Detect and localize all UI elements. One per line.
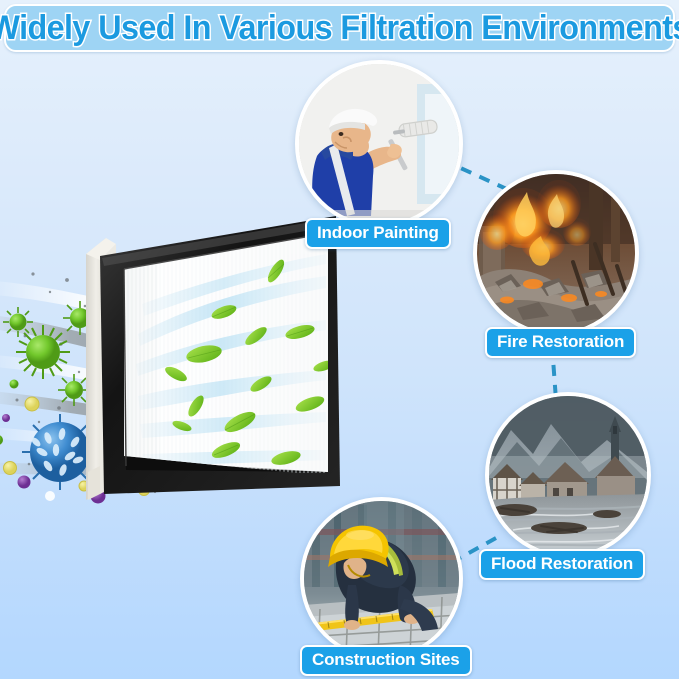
label-construction-sites[interactable]: Construction Sites — [300, 645, 472, 676]
scene-fire-restoration[interactable] — [473, 170, 639, 336]
scene-indoor-painting[interactable] — [295, 60, 463, 228]
scene-flood-restoration[interactable] — [485, 392, 651, 558]
hepa-filter-product — [78, 214, 388, 514]
page-title: Widely Used In Various Filtration Enviro… — [0, 9, 679, 48]
infographic-canvas: Widely Used In Various Filtration Enviro… — [0, 0, 679, 679]
label-indoor-painting[interactable]: Indoor Painting — [305, 218, 451, 249]
scene-construction-sites[interactable] — [300, 497, 463, 660]
title-banner: Widely Used In Various Filtration Enviro… — [4, 4, 675, 52]
label-flood-restoration[interactable]: Flood Restoration — [479, 549, 645, 580]
label-fire-restoration[interactable]: Fire Restoration — [485, 327, 636, 358]
